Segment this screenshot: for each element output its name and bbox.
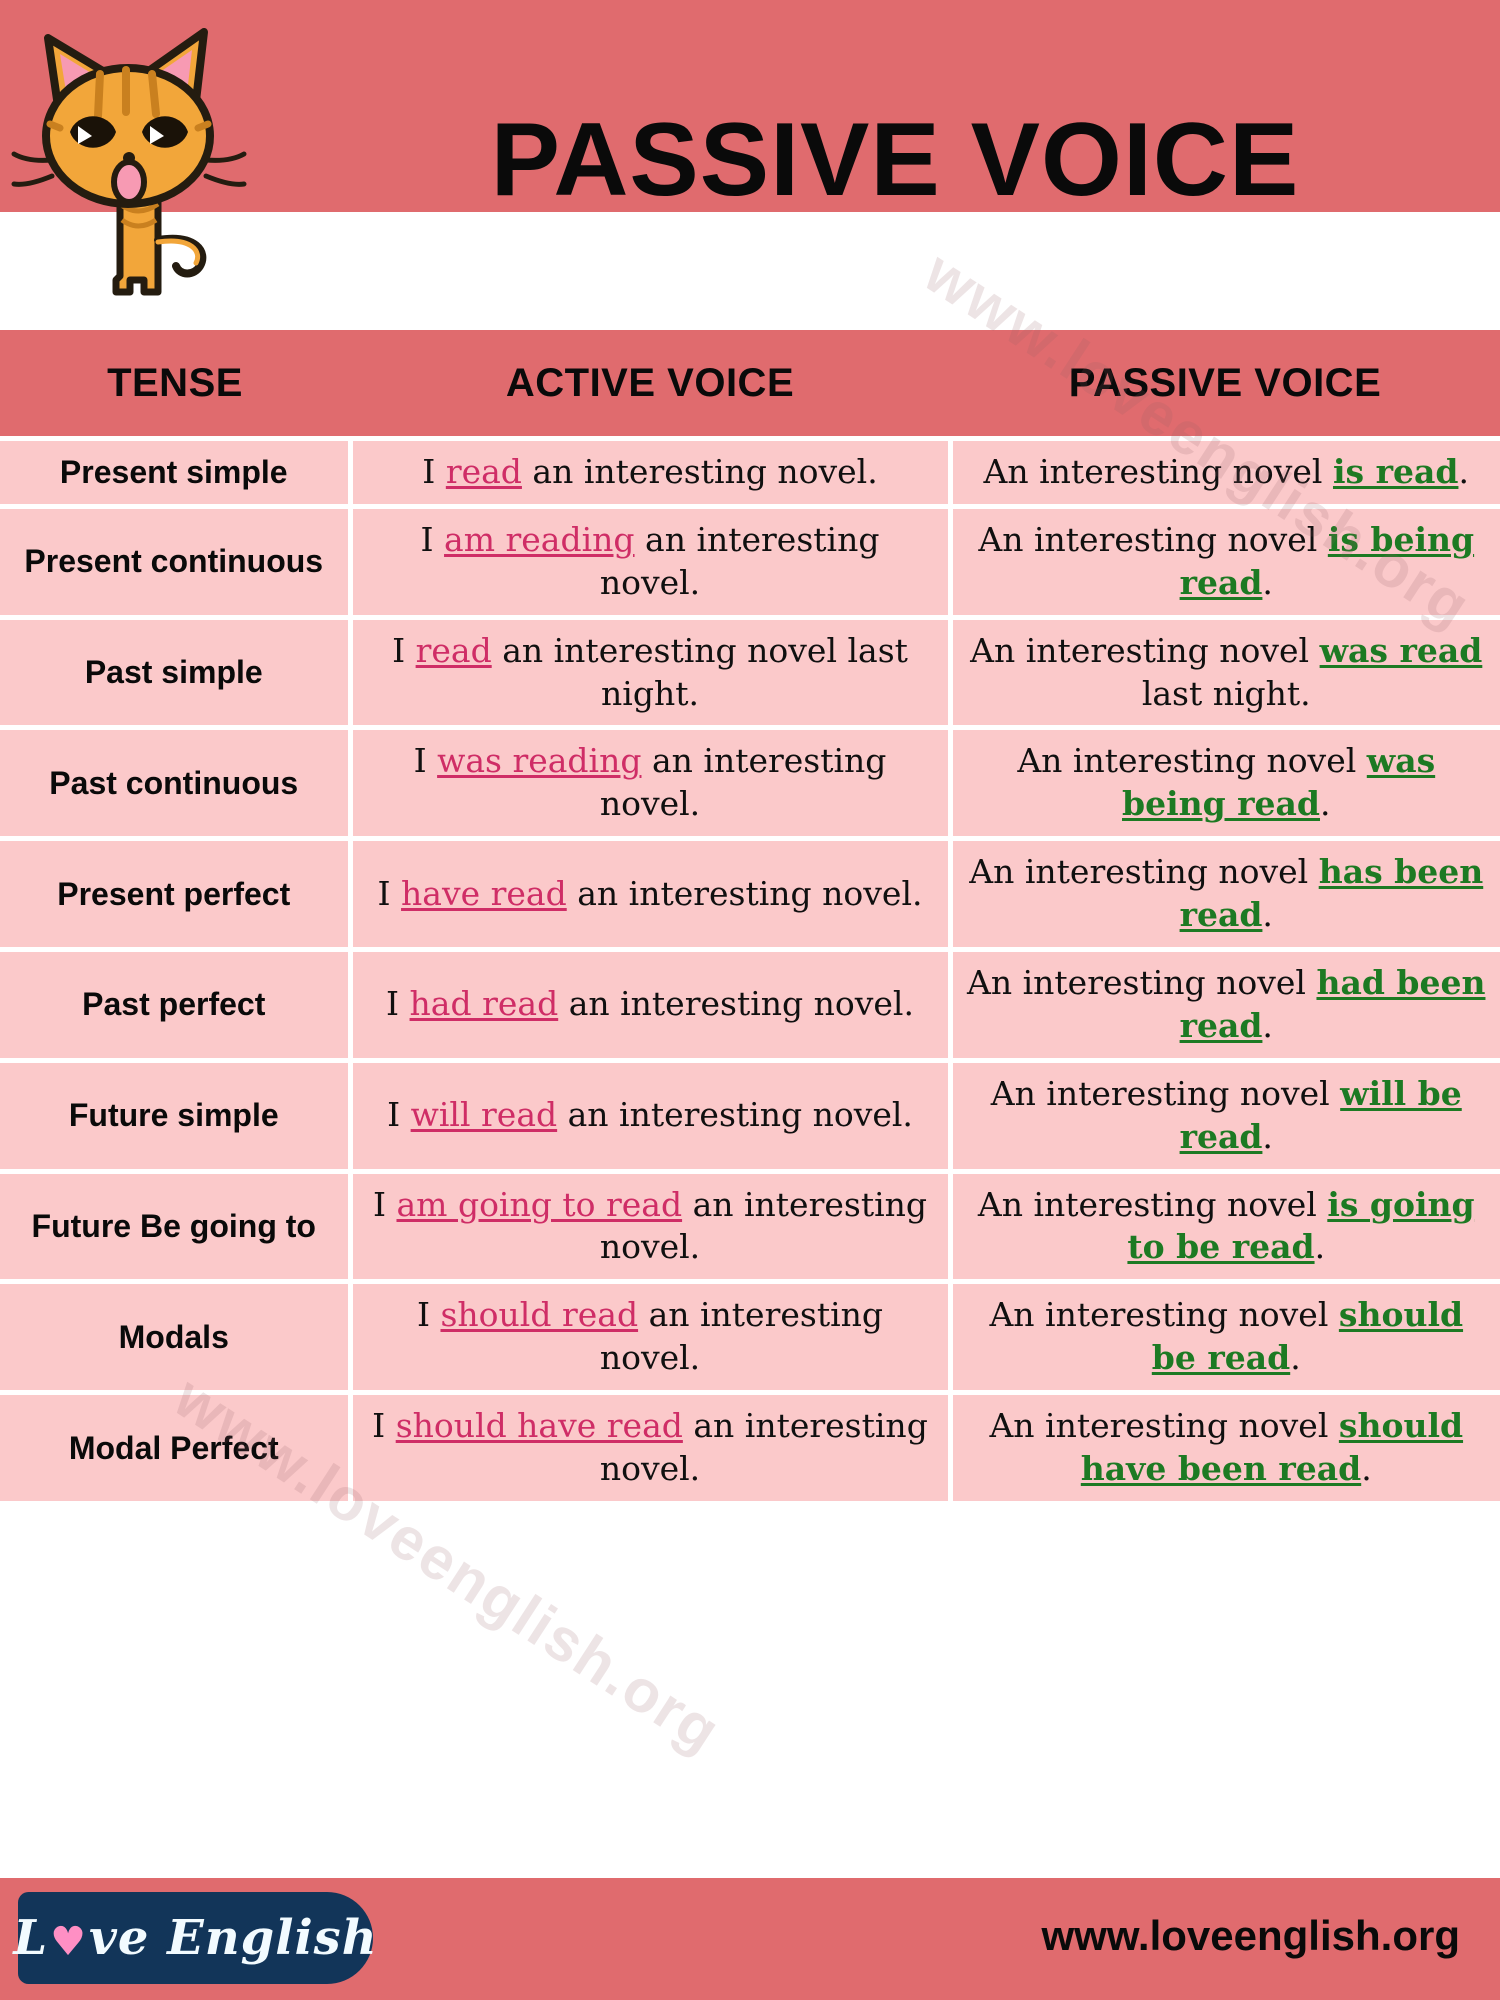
active-text-pre: I [387, 1095, 411, 1134]
active-voice-cell: I was reading an interesting novel. [350, 728, 950, 839]
page-title: PASSIVE VOICE [330, 108, 1460, 212]
active-text-post: an interesting novel. [567, 874, 923, 913]
passive-text-post: . [1458, 452, 1469, 491]
table-row: ModalsI should read an interesting novel… [0, 1282, 1500, 1393]
active-text-post: an interesting novel. [557, 1095, 913, 1134]
passive-voice-cell: An interesting novel was read last night… [950, 617, 1500, 728]
passive-text-pre: An interesting novel [1017, 741, 1366, 780]
passive-text-pre: An interesting novel [989, 1406, 1338, 1445]
passive-voice-cell: An interesting novel had been read. [950, 950, 1500, 1061]
logo-text-post: ve English [89, 1910, 378, 1966]
tense-cell: Present continuous [0, 506, 350, 617]
active-text-pre: I [372, 1406, 396, 1445]
active-verb-highlight: should read [440, 1295, 638, 1334]
cat-mascot-icon [8, 8, 293, 308]
passive-text-post: . [1320, 784, 1331, 823]
column-header-active-voice: ACTIVE VOICE [350, 330, 950, 439]
passive-text-post: . [1262, 895, 1273, 934]
active-verb-highlight: was reading [437, 741, 641, 780]
active-text-post: an interesting novel. [600, 741, 887, 823]
logo-text: L♥ve English [13, 1910, 377, 1966]
column-header-passive-voice: PASSIVE VOICE [950, 330, 1500, 439]
passive-voice-cell: An interesting novel is being read. [950, 506, 1500, 617]
tense-cell: Past continuous [0, 728, 350, 839]
tense-cell: Future simple [0, 1060, 350, 1171]
active-text-pre: I [392, 631, 416, 670]
tense-cell: Future Be going to [0, 1171, 350, 1282]
passive-text-pre: An interesting novel [978, 520, 1327, 559]
passive-voice-cell: An interesting novel is going to be read… [950, 1171, 1500, 1282]
passive-text-pre: An interesting novel [989, 1295, 1338, 1334]
tense-cell: Present simple [0, 439, 350, 507]
active-text-pre: I [414, 741, 438, 780]
active-verb-highlight: read [446, 452, 522, 491]
passive-verb-highlight: was read [1320, 631, 1483, 670]
tense-cell: Past perfect [0, 950, 350, 1061]
passive-voice-cell: An interesting novel should have been re… [950, 1393, 1500, 1504]
logo-text-pre: L [13, 1910, 48, 1966]
passive-text-post: last night. [1142, 674, 1311, 713]
active-verb-highlight: will read [411, 1095, 558, 1134]
active-text-pre: I [421, 520, 445, 559]
passive-text-pre: An interesting novel [967, 963, 1316, 1002]
active-voice-cell: I have read an interesting novel. [350, 839, 950, 950]
table-row: Future Be going toI am going to read an … [0, 1171, 1500, 1282]
table-row: Future simpleI will read an interesting … [0, 1060, 1500, 1171]
active-text-pre: I [373, 1185, 397, 1224]
tense-cell: Past simple [0, 617, 350, 728]
passive-text-post: . [1361, 1449, 1372, 1488]
footer-band: L♥ve English www.loveenglish.org [0, 1878, 1500, 2000]
table-row: Past simpleI read an interesting novel l… [0, 617, 1500, 728]
active-text-post: an interesting novel. [558, 984, 914, 1023]
active-text-post: an interesting novel. [600, 520, 880, 602]
active-voice-cell: I am reading an interesting novel. [350, 506, 950, 617]
active-verb-highlight: have read [401, 874, 567, 913]
passive-voice-cell: An interesting novel should be read. [950, 1282, 1500, 1393]
table-row: Present simpleI read an interesting nove… [0, 439, 1500, 507]
active-voice-cell: I read an interesting novel last night. [350, 617, 950, 728]
active-verb-highlight: should have read [396, 1406, 683, 1445]
table-row: Modal PerfectI should have read an inter… [0, 1393, 1500, 1504]
heart-icon: ♥ [50, 1918, 87, 1965]
table-row: Past perfectI had read an interesting no… [0, 950, 1500, 1061]
active-verb-highlight: am reading [444, 520, 635, 559]
active-voice-cell: I had read an interesting novel. [350, 950, 950, 1061]
active-text-pre: I [422, 452, 446, 491]
active-text-post: an interesting novel. [522, 452, 878, 491]
active-voice-cell: I read an interesting novel. [350, 439, 950, 507]
table-row: Present perfectI have read an interestin… [0, 839, 1500, 950]
active-text-post: an interesting novel. [600, 1295, 883, 1377]
table-row: Present continuousI am reading an intere… [0, 506, 1500, 617]
passive-text-post: . [1262, 1117, 1273, 1156]
passive-text-pre: An interesting novel [984, 452, 1333, 491]
passive-text-post: . [1315, 1227, 1326, 1266]
active-voice-cell: I am going to read an interesting novel. [350, 1171, 950, 1282]
active-text-pre: I [417, 1295, 441, 1334]
active-voice-cell: I should read an interesting novel. [350, 1282, 950, 1393]
passive-voice-table: TENSE ACTIVE VOICE PASSIVE VOICE Present… [0, 330, 1500, 1506]
active-verb-highlight: am going to read [396, 1185, 682, 1224]
passive-text-post: . [1290, 1338, 1301, 1377]
active-verb-highlight: read [416, 631, 492, 670]
active-voice-cell: I should have read an interesting novel. [350, 1393, 950, 1504]
passive-voice-cell: An interesting novel is read. [950, 439, 1500, 507]
table-row: Past continuousI was reading an interest… [0, 728, 1500, 839]
passive-verb-highlight: is read [1333, 452, 1458, 491]
table-header-row: TENSE ACTIVE VOICE PASSIVE VOICE [0, 330, 1500, 439]
passive-text-pre: An interesting novel [969, 852, 1318, 891]
passive-text-pre: An interesting novel [991, 1074, 1340, 1113]
love-english-logo[interactable]: L♥ve English [18, 1892, 373, 1984]
footer-website-url[interactable]: www.loveenglish.org [1041, 1912, 1460, 1960]
passive-text-post: . [1262, 563, 1273, 602]
column-header-tense: TENSE [0, 330, 350, 439]
tense-cell: Modals [0, 1282, 350, 1393]
active-text-post: an interesting novel last night. [492, 631, 908, 713]
passive-text-pre: An interesting novel [978, 1185, 1327, 1224]
passive-voice-cell: An interesting novel will be read. [950, 1060, 1500, 1171]
tense-cell: Modal Perfect [0, 1393, 350, 1504]
active-text-pre: I [378, 874, 402, 913]
passive-voice-cell: An interesting novel was being read. [950, 728, 1500, 839]
passive-voice-cell: An interesting novel has been read. [950, 839, 1500, 950]
passive-text-post: . [1262, 1006, 1273, 1045]
tense-cell: Present perfect [0, 839, 350, 950]
active-verb-highlight: had read [410, 984, 559, 1023]
active-text-pre: I [386, 984, 410, 1023]
passive-voice-poster: PASSIVE VOICE www.loveenglish.org www.lo… [0, 0, 1500, 2000]
active-voice-cell: I will read an interesting novel. [350, 1060, 950, 1171]
passive-text-pre: An interesting novel [970, 631, 1319, 670]
